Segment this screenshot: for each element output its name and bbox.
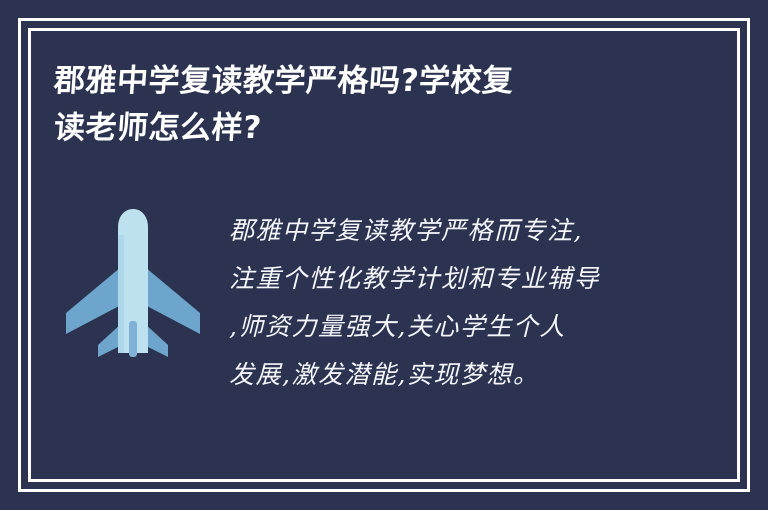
page-title: 郡雅中学复读教学严格吗?学校复 读老师怎么样?: [54, 58, 694, 152]
title-line-2: 读老师怎么样?: [52, 105, 695, 152]
poster-canvas: 郡雅中学复读教学严格吗?学校复 读老师怎么样? 郡雅中学复读教学严格而专注, 注…: [0, 0, 768, 510]
body-paragraph: 郡雅中学复读教学严格而专注, 注重个性化教学计划和专业辅导 ,师资力量强大,关心…: [229, 207, 649, 399]
title-line-1: 郡雅中学复读教学严格吗?学校复: [52, 58, 695, 105]
body-line-1: 郡雅中学复读教学严格而专注,: [229, 207, 649, 255]
airplane-icon: [58, 205, 208, 360]
body-line-4: 发展,激发潜能,实现梦想。: [229, 351, 649, 399]
body-line-2: 注重个性化教学计划和专业辅导: [229, 255, 649, 303]
body-line-3: ,师资力量强大,关心学生个人: [229, 303, 649, 351]
